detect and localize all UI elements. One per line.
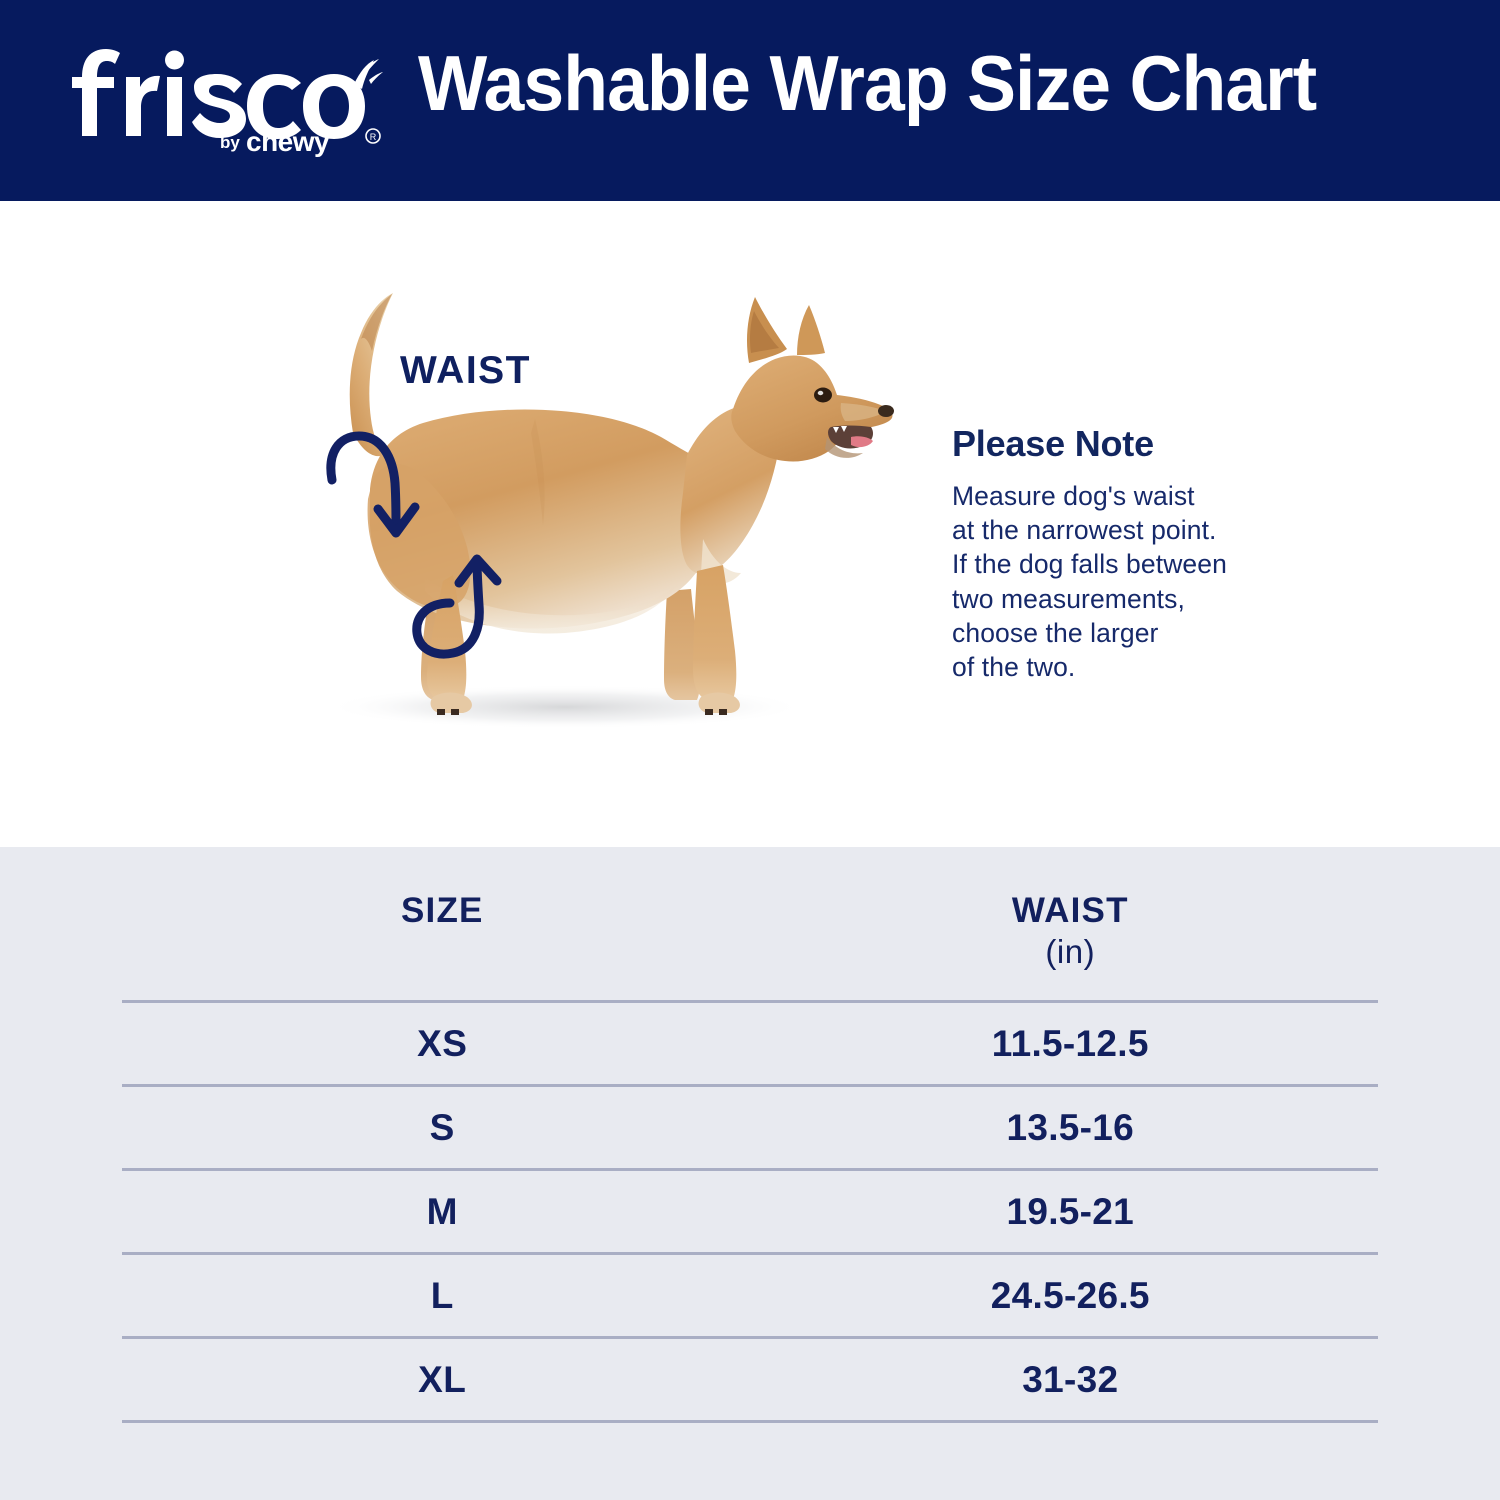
frisco-logo-icon: R by chewy: [70, 40, 390, 170]
size-table: SIZE WAIST (in) XS 11.5-12.5 S 13.5-16 M…: [122, 847, 1378, 1423]
please-note-body: Measure dog's waist at the narrowest poi…: [952, 479, 1352, 684]
logo-byline-brand: chewy: [246, 126, 330, 157]
table-row: S 13.5-16: [122, 1087, 1378, 1171]
cell-waist: 13.5-16: [763, 1107, 1378, 1149]
table-row: XS 11.5-12.5: [122, 1003, 1378, 1087]
cell-size: L: [122, 1275, 763, 1317]
column-header-waist-label: WAIST: [1012, 891, 1129, 930]
column-header-waist: WAIST (in): [763, 847, 1378, 971]
cell-waist: 24.5-26.5: [763, 1275, 1378, 1317]
cell-size: S: [122, 1107, 763, 1149]
table-row: XL 31-32: [122, 1339, 1378, 1423]
frisco-by-chewy-logo: R by chewy: [70, 40, 390, 170]
please-note-block: Please Note Measure dog's waist at the n…: [952, 423, 1352, 684]
size-chart-page: R by chewy Washable Wrap Size Chart: [0, 0, 1500, 1500]
column-header-size: SIZE: [122, 847, 763, 931]
cell-size: M: [122, 1191, 763, 1233]
table-row: M 19.5-21: [122, 1171, 1378, 1255]
waist-annotation-label: WAIST: [400, 349, 531, 393]
cell-waist: 19.5-21: [763, 1191, 1378, 1233]
cell-waist: 11.5-12.5: [763, 1023, 1378, 1065]
dog-illustration: [235, 221, 895, 791]
illustration-section: WAIST Please Note Measure dog's waist at…: [0, 201, 1500, 847]
table-row: L 24.5-26.5: [122, 1255, 1378, 1339]
header-bar: R by chewy Washable Wrap Size Chart: [0, 0, 1500, 201]
please-note-title: Please Note: [952, 423, 1352, 465]
column-header-waist-unit: (in): [763, 933, 1378, 971]
svg-text:R: R: [370, 132, 377, 142]
size-table-section: SIZE WAIST (in) XS 11.5-12.5 S 13.5-16 M…: [0, 847, 1500, 1500]
page-title: Washable Wrap Size Chart: [418, 44, 1405, 122]
dog-side-profile-icon: [235, 221, 895, 791]
cell-size: XS: [122, 1023, 763, 1065]
cell-waist: 31-32: [763, 1359, 1378, 1401]
logo-byline-prefix: by: [220, 133, 240, 152]
cell-size: XL: [122, 1359, 763, 1401]
registered-trademark-icon: R: [366, 129, 380, 143]
table-header-row: SIZE WAIST (in): [122, 847, 1378, 1003]
